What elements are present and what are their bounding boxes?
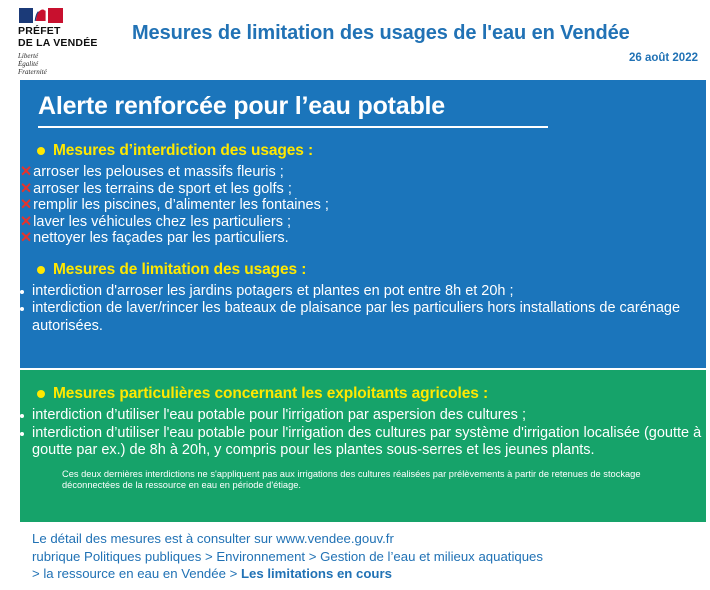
interdiction-text: laver les véhicules chez les particulier…: [33, 214, 291, 231]
authority-line-2: DE LA VENDÉE: [18, 37, 98, 49]
french-flag-marianne-icon: [19, 8, 63, 23]
marianne-profile-icon: [33, 8, 48, 23]
agriculture-measures-panel: Mesures particulières concernant les exp…: [20, 370, 706, 522]
motto-egalite: Égalité: [18, 60, 38, 68]
footer-line-website: Le détail des mesures est à consulter su…: [32, 530, 543, 548]
interdictions-heading-label: Mesures d’interdiction des usages :: [53, 142, 313, 160]
list-item: ✕ arroser les terrains de sport et les g…: [20, 181, 706, 198]
interdictions-heading: Mesures d’interdiction des usages :: [37, 142, 706, 160]
motto-liberte: Liberté: [18, 52, 38, 60]
title-underline-rule: [38, 126, 548, 128]
interdiction-text: nettoyer les façades par les particulier…: [33, 230, 289, 247]
breadcrumb-current-page: Les limitations en cours: [241, 566, 392, 581]
authority-name: PRÉFET DE LA VENDÉE: [18, 26, 114, 49]
agriculture-footnote: Ces deux dernières interdictions ne s'ap…: [62, 469, 687, 492]
interdiction-text: arroser les terrains de sport et les gol…: [33, 181, 292, 198]
cross-icon: ✕: [20, 214, 32, 231]
list-item: interdiction de laver/rincer les bateaux…: [20, 300, 706, 335]
breadcrumb-prefix: > la ressource en eau en Vendée >: [32, 566, 241, 581]
publication-date: 26 août 2022: [629, 52, 698, 64]
republic-motto: Liberté Égalité Fraternité: [18, 52, 114, 77]
authority-line-1: PRÉFET: [18, 25, 61, 37]
list-item: ✕ remplir les piscines, d’alimenter les …: [20, 197, 706, 214]
footer-line-breadcrumb: rubrique Politiques publiques > Environn…: [32, 548, 543, 566]
footer-reference: Le détail des mesures est à consulter su…: [32, 530, 543, 583]
interdiction-text: arroser les pelouses et massifs fleuris …: [33, 164, 284, 181]
flag-red-band: [48, 8, 63, 23]
limitations-heading-label: Mesures de limitation des usages :: [53, 261, 306, 279]
cross-icon: ✕: [20, 197, 32, 214]
yellow-bullet-icon: [37, 390, 45, 398]
footer-line-breadcrumb-end: > la ressource en eau en Vendée > Les li…: [32, 565, 543, 583]
list-item: interdiction d'arroser les jardins potag…: [20, 283, 706, 301]
agriculture-list: interdiction d’utiliser l'eau potable po…: [20, 407, 706, 460]
cross-icon: ✕: [20, 181, 32, 198]
limitations-list: interdiction d'arroser les jardins potag…: [20, 283, 706, 336]
page-header: PRÉFET DE LA VENDÉE Liberté Égalité Frat…: [0, 0, 710, 78]
list-item: interdiction d’utiliser l'eau potable po…: [20, 407, 706, 425]
flag-blue-band: [19, 8, 33, 23]
motto-fraternite: Fraternité: [18, 68, 47, 76]
list-item: ✕ nettoyer les façades par les particuli…: [20, 230, 706, 247]
list-item: ✕ arroser les pelouses et massifs fleuri…: [20, 164, 706, 181]
prefecture-branding: PRÉFET DE LA VENDÉE Liberté Égalité Frat…: [18, 8, 114, 77]
page-title: Mesures de limitation des usages de l'ea…: [132, 22, 630, 45]
drinking-water-alert-panel: Alerte renforcée pour l’eau potable Mesu…: [20, 80, 706, 368]
agriculture-heading-label: Mesures particulières concernant les exp…: [53, 385, 488, 403]
alert-level-title: Alerte renforcée pour l’eau potable: [38, 92, 445, 126]
agriculture-heading: Mesures particulières concernant les exp…: [37, 385, 706, 403]
list-item: interdiction d’utiliser l'eau potable po…: [20, 425, 706, 460]
interdictions-list: ✕ arroser les pelouses et massifs fleuri…: [20, 164, 706, 247]
limitations-heading: Mesures de limitation des usages :: [37, 261, 706, 279]
cross-icon: ✕: [20, 164, 32, 181]
interdiction-text: remplir les piscines, d’alimenter les fo…: [33, 197, 329, 214]
yellow-bullet-icon: [37, 266, 45, 274]
list-item: ✕ laver les véhicules chez les particuli…: [20, 214, 706, 231]
yellow-bullet-icon: [37, 147, 45, 155]
cross-icon: ✕: [20, 230, 32, 247]
